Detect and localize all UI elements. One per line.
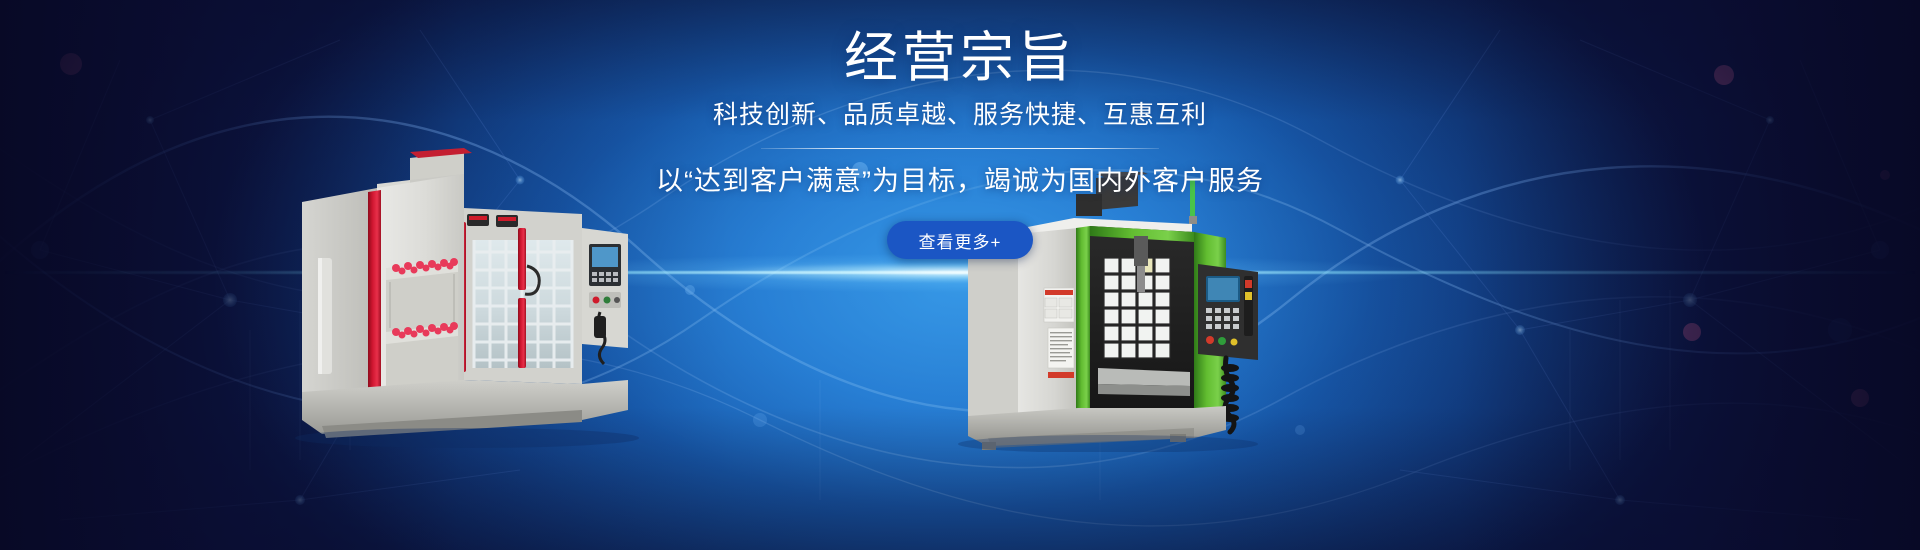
cnc-machining-center-green [958, 172, 1288, 452]
cta-row: 查看更多+ [510, 221, 1410, 259]
cnc-machining-center-red [282, 148, 702, 448]
view-more-button[interactable]: 查看更多+ [887, 221, 1033, 259]
hero-banner: 经营宗旨 科技创新、品质卓越、服务快捷、互惠互利 以“达到客户满意”为目标，竭诚… [0, 0, 1920, 550]
